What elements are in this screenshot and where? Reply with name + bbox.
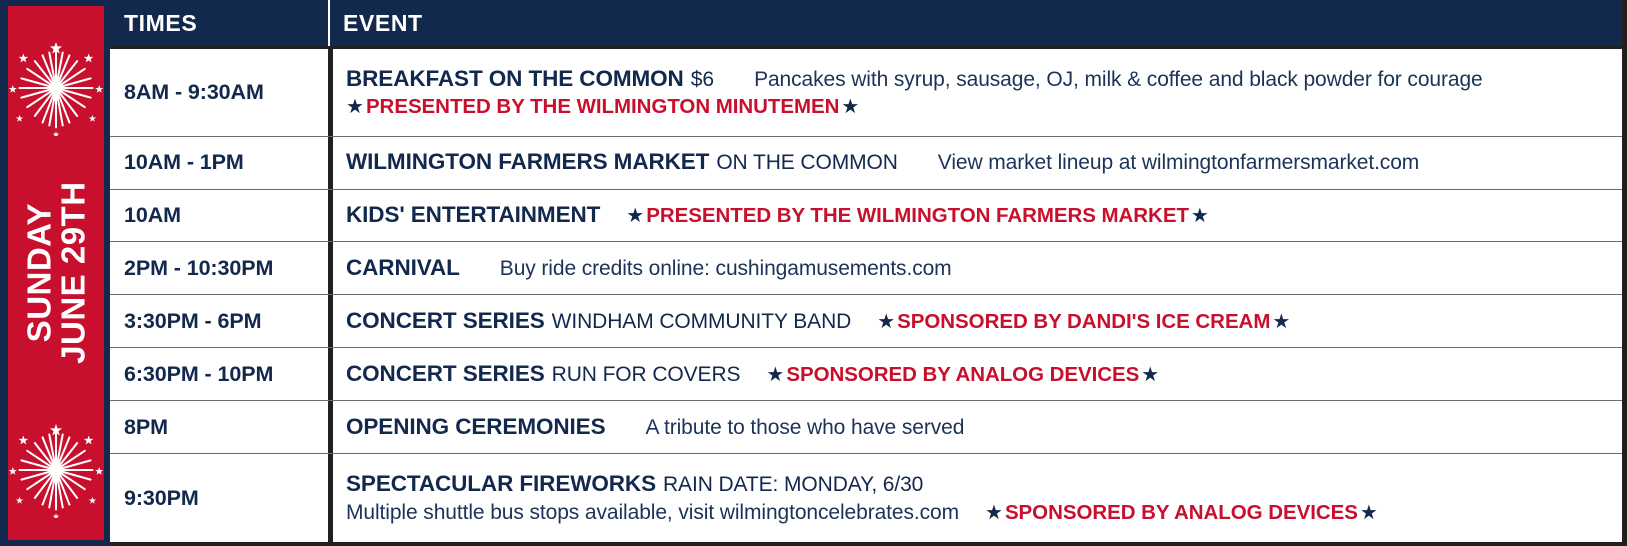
row-time: 10AM - 1PM xyxy=(110,137,328,189)
event-title: WILMINGTON FARMERS MARKET xyxy=(346,148,709,176)
date-rail: SUNDAY JUNE 29TH xyxy=(8,6,104,540)
event-primary-line: OPENING CEREMONIES A tribute to those wh… xyxy=(346,413,1616,441)
date-label: SUNDAY JUNE 29TH xyxy=(22,182,89,364)
event-description: Pancakes with syrup, sausage, OJ, milk &… xyxy=(754,67,1483,93)
row-event: WILMINGTON FARMERS MARKET ON THE COMMON … xyxy=(328,137,1622,189)
table-body: 8AM - 9:30AM BREAKFAST ON THE COMMON $6 … xyxy=(110,46,1622,546)
table-row: 3:30PM - 6PM CONCERT SERIES WINDHAM COMM… xyxy=(110,295,1622,348)
row-time: 2PM - 10:30PM xyxy=(110,242,328,294)
column-header-times: TIMES xyxy=(110,0,328,46)
star-icon: ★ xyxy=(985,503,1003,523)
row-time: 10AM xyxy=(110,190,328,242)
event-secondary-line: Multiple shuttle bus stops available, vi… xyxy=(346,500,1616,526)
event-primary-line: BREAKFAST ON THE COMMON $6 Pancakes with… xyxy=(346,65,1616,93)
event-primary-line: SPECTACULAR FIREWORKS RAIN DATE: MONDAY,… xyxy=(346,470,1616,498)
sponsor-credit: ★ SPONSORED BY DANDI'S ICE CREAM ★ xyxy=(877,309,1290,335)
sponsor-text: SPONSORED BY DANDI'S ICE CREAM xyxy=(897,309,1270,335)
star-icon: ★ xyxy=(877,312,895,332)
date-rail-frame: SUNDAY JUNE 29TH xyxy=(0,0,110,546)
table-row: 10AM - 1PM WILMINGTON FARMERS MARKET ON … xyxy=(110,137,1622,190)
event-title: CONCERT SERIES xyxy=(346,307,545,335)
event-description: A tribute to those who have served xyxy=(646,415,965,441)
row-event: CONCERT SERIES WINDHAM COMMUNITY BAND ★ … xyxy=(328,295,1622,347)
sponsor-text: PRESENTED BY THE WILMINGTON FARMERS MARK… xyxy=(646,203,1189,229)
table-row: 9:30PM SPECTACULAR FIREWORKS RAIN DATE: … xyxy=(110,454,1622,542)
row-time: 3:30PM - 6PM xyxy=(110,295,328,347)
event-primary-line: KIDS' ENTERTAINMENT ★ PRESENTED BY THE W… xyxy=(346,201,1616,229)
row-event: KIDS' ENTERTAINMENT ★ PRESENTED BY THE W… xyxy=(328,190,1622,242)
row-time: 8AM - 9:30AM xyxy=(110,49,328,136)
event-primary-line: WILMINGTON FARMERS MARKET ON THE COMMON … xyxy=(346,148,1616,176)
row-event: SPECTACULAR FIREWORKS RAIN DATE: MONDAY,… xyxy=(328,454,1622,542)
star-icon: ★ xyxy=(841,97,859,117)
schedule-table-area: TIMES EVENT 8AM - 9:30AM BREAKFAST ON TH… xyxy=(110,0,1627,546)
event-subtitle: WINDHAM COMMUNITY BAND xyxy=(552,309,852,335)
sponsor-text: SPONSORED BY ANALOG DEVICES xyxy=(786,362,1139,388)
event-title: OPENING CEREMONIES xyxy=(346,413,606,441)
table-row: 10AM KIDS' ENTERTAINMENT ★ PRESENTED BY … xyxy=(110,190,1622,243)
sponsor-credit: ★ PRESENTED BY THE WILMINGTON FARMERS MA… xyxy=(626,203,1209,229)
event-title: BREAKFAST ON THE COMMON xyxy=(346,65,684,93)
star-icon: ★ xyxy=(1191,206,1209,226)
event-title: CARNIVAL xyxy=(346,254,460,282)
row-event: OPENING CEREMONIES A tribute to those wh… xyxy=(328,401,1622,453)
event-description: View market lineup at wilmingtonfarmersm… xyxy=(938,150,1419,176)
row-event: CONCERT SERIES RUN FOR COVERS ★ SPONSORE… xyxy=(328,348,1622,400)
event-subtitle: RAIN DATE: MONDAY, 6/30 xyxy=(663,472,923,498)
event-primary-line: CONCERT SERIES RUN FOR COVERS ★ SPONSORE… xyxy=(346,360,1616,388)
date-line-2: JUNE 29TH xyxy=(56,182,90,364)
event-secondary-line: ★ PRESENTED BY THE WILMINGTON MINUTEMEN … xyxy=(346,94,1616,120)
star-icon: ★ xyxy=(626,206,644,226)
sponsor-text: SPONSORED BY ANALOG DEVICES xyxy=(1005,500,1358,526)
table-row: 6:30PM - 10PM CONCERT SERIES RUN FOR COV… xyxy=(110,348,1622,401)
star-icon: ★ xyxy=(1360,503,1378,523)
event-subtitle: ON THE COMMON xyxy=(716,150,897,176)
table-row: 8PM OPENING CEREMONIES A tribute to thos… xyxy=(110,401,1622,454)
event-title: KIDS' ENTERTAINMENT xyxy=(346,201,600,229)
row-time: 8PM xyxy=(110,401,328,453)
firework-burst-icon xyxy=(8,422,104,518)
table-row: 8AM - 9:30AM BREAKFAST ON THE COMMON $6 … xyxy=(110,49,1622,137)
event-title: CONCERT SERIES xyxy=(346,360,545,388)
table-header-row: TIMES EVENT xyxy=(110,0,1622,46)
event-price: $6 xyxy=(691,67,714,93)
star-icon: ★ xyxy=(346,97,364,117)
sponsor-credit: ★ SPONSORED BY ANALOG DEVICES ★ xyxy=(766,362,1159,388)
event-primary-line: CONCERT SERIES WINDHAM COMMUNITY BAND ★ … xyxy=(346,307,1616,335)
row-event: BREAKFAST ON THE COMMON $6 Pancakes with… xyxy=(328,49,1622,136)
sponsor-credit: ★ PRESENTED BY THE WILMINGTON MINUTEMEN … xyxy=(346,94,859,120)
star-icon: ★ xyxy=(766,365,784,385)
event-description: Multiple shuttle bus stops available, vi… xyxy=(346,500,959,526)
sponsor-text: PRESENTED BY THE WILMINGTON MINUTEMEN xyxy=(366,94,839,120)
row-time: 6:30PM - 10PM xyxy=(110,348,328,400)
event-primary-line: CARNIVAL Buy ride credits online: cushin… xyxy=(346,254,1616,282)
row-time: 9:30PM xyxy=(110,454,328,542)
event-subtitle: RUN FOR COVERS xyxy=(552,362,741,388)
event-schedule-table: SUNDAY JUNE 29TH xyxy=(0,0,1627,546)
event-title: SPECTACULAR FIREWORKS xyxy=(346,470,656,498)
sponsor-credit: ★ SPONSORED BY ANALOG DEVICES ★ xyxy=(985,500,1378,526)
date-line-1: SUNDAY xyxy=(20,203,57,342)
table-row: 2PM - 10:30PM CARNIVAL Buy ride credits … xyxy=(110,242,1622,295)
star-icon: ★ xyxy=(1141,365,1159,385)
row-event: CARNIVAL Buy ride credits online: cushin… xyxy=(328,242,1622,294)
column-header-event: EVENT xyxy=(328,0,1622,46)
star-icon: ★ xyxy=(1272,312,1290,332)
event-description: Buy ride credits online: cushingamusemen… xyxy=(500,256,952,282)
